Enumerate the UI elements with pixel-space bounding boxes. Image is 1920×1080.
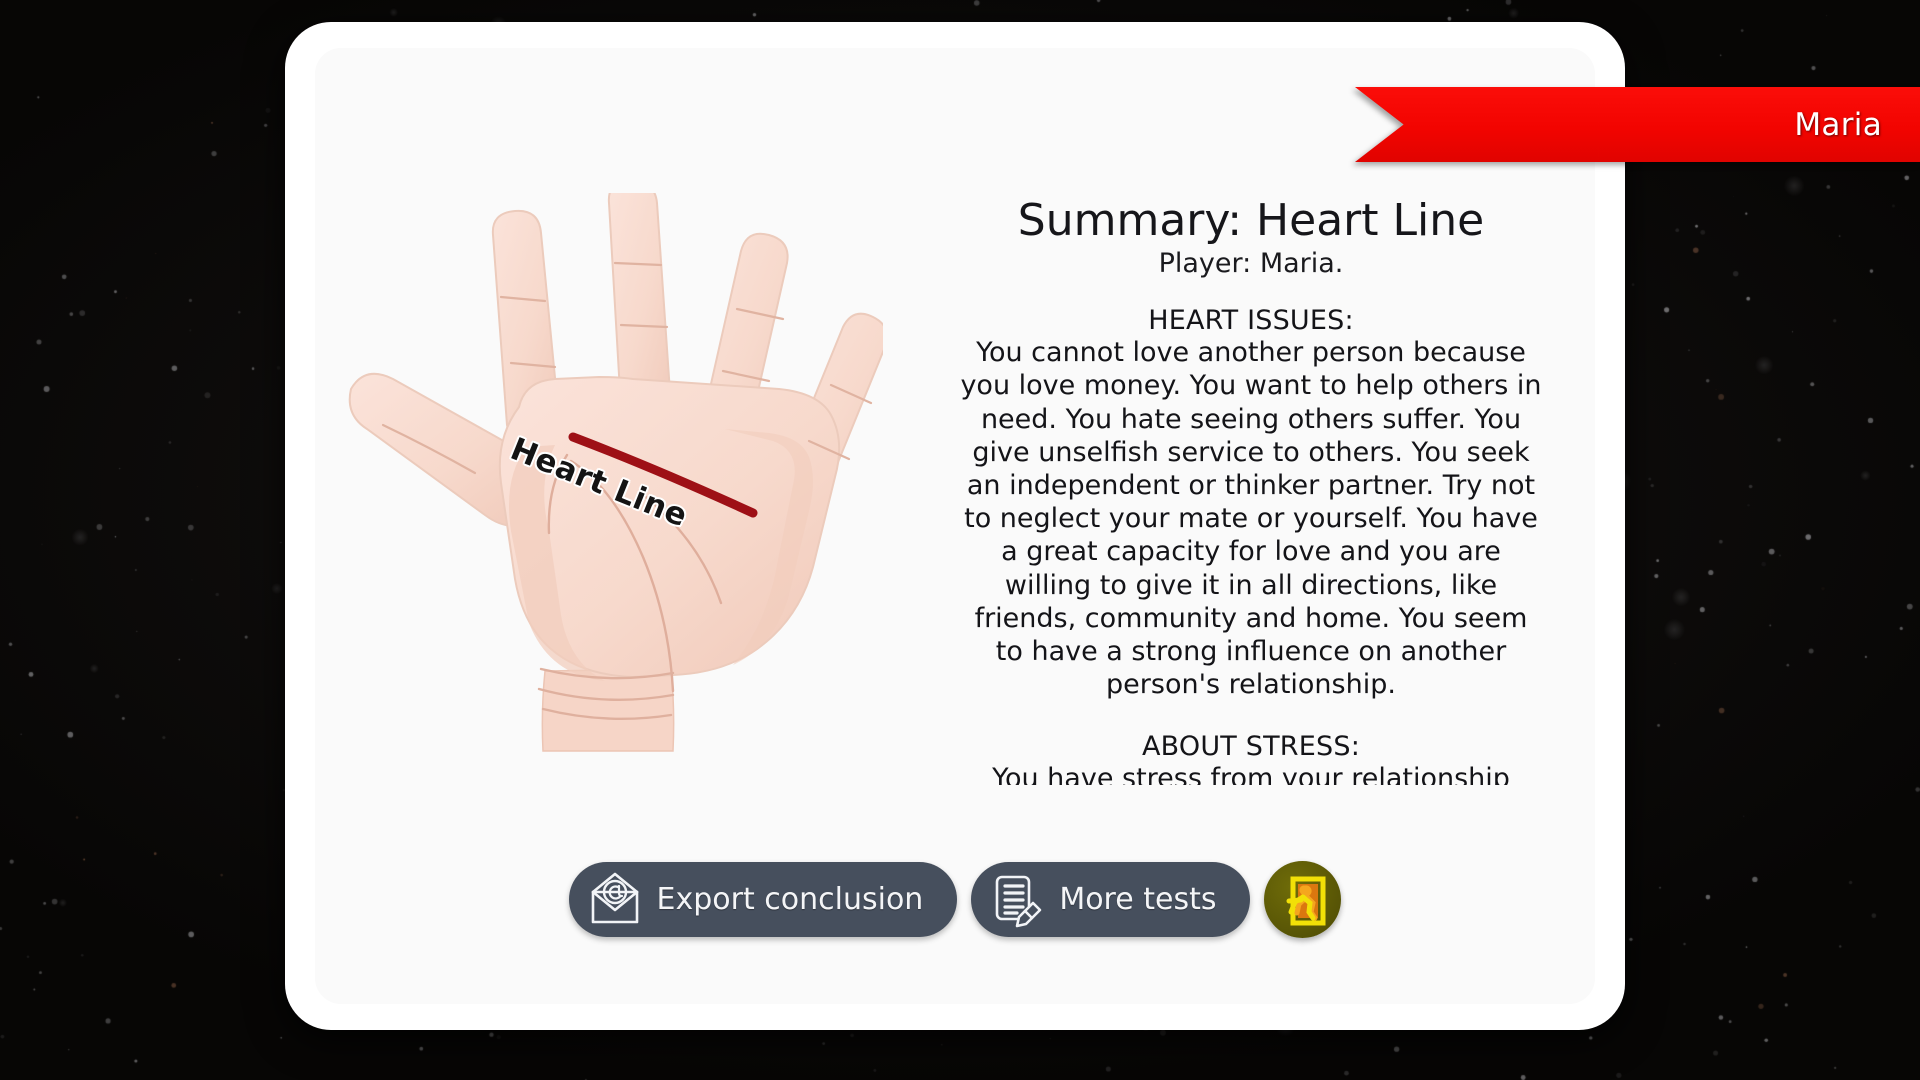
section-body: You have stress from your relationship p…	[957, 762, 1545, 785]
player-name-ribbon: Maria	[1355, 87, 1920, 162]
result-card-frame: Heart Line Summary: Heart Line Player: M…	[285, 22, 1625, 1030]
result-card: Heart Line Summary: Heart Line Player: M…	[315, 48, 1595, 1004]
page-title: Summary: Heart Line	[957, 198, 1545, 244]
exit-button[interactable]	[1264, 861, 1341, 938]
action-bar: Export conclusion More tests	[315, 861, 1595, 938]
export-conclusion-button[interactable]: Export conclusion	[569, 862, 958, 937]
exit-door-running-man-icon	[1275, 872, 1331, 928]
section-heading: ABOUT STRESS:	[957, 731, 1545, 762]
section-body: You cannot love another person because y…	[957, 336, 1545, 701]
document-pencil-icon	[989, 872, 1045, 928]
email-envelope-icon	[587, 872, 643, 928]
palm-diagram: Heart Line	[323, 193, 883, 753]
more-tests-button[interactable]: More tests	[971, 862, 1250, 937]
summary-scroll-area[interactable]: HEART ISSUES: You cannot love another pe…	[957, 305, 1545, 785]
export-conclusion-label: Export conclusion	[657, 882, 924, 917]
player-name-label: Maria	[1355, 87, 1920, 162]
more-tests-label: More tests	[1059, 882, 1216, 917]
section-about-stress: ABOUT STRESS: You have stress from your …	[957, 731, 1545, 785]
section-heart-issues: HEART ISSUES: You cannot love another pe…	[957, 305, 1545, 701]
section-heading: HEART ISSUES:	[957, 305, 1545, 336]
player-subtitle: Player: Maria.	[957, 248, 1545, 279]
section-spacer	[957, 701, 1545, 731]
